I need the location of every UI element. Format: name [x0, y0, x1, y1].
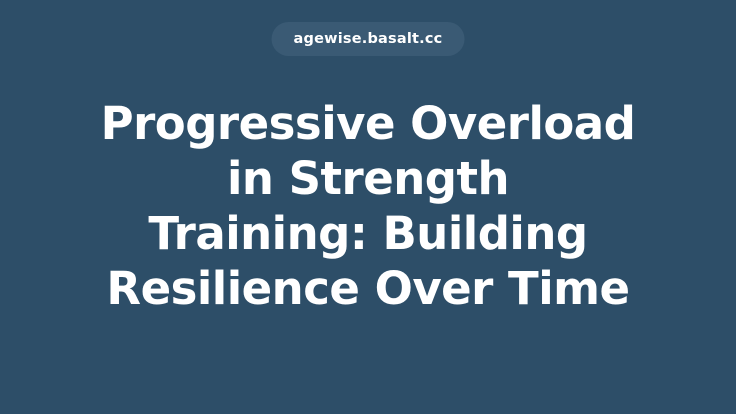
title-slide: agewise.basalt.cc Progressive Overload i…: [0, 0, 736, 414]
headline-line-2: in Strength: [88, 151, 648, 206]
domain-badge: agewise.basalt.cc: [272, 22, 465, 56]
headline-line-3: Training: Building: [88, 206, 648, 261]
headline-line-4: Resilience Over Time: [88, 261, 648, 316]
domain-badge-label: agewise.basalt.cc: [294, 32, 443, 47]
headline-block: Progressive Overload in Strength Trainin…: [88, 96, 648, 316]
headline-line-1: Progressive Overload: [88, 96, 648, 151]
